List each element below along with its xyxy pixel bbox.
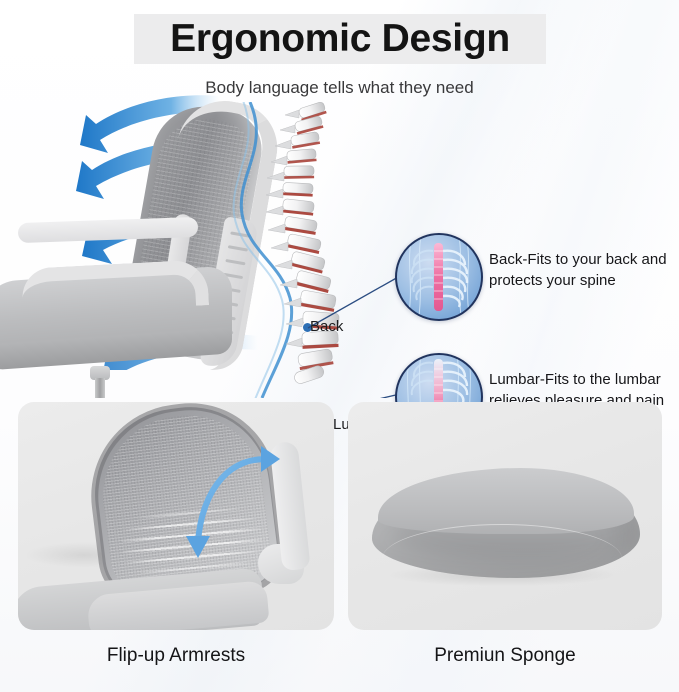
infographic-canvas: Ergonomic Design Body language tells wha… [0, 0, 679, 692]
page-title: Ergonomic Design [134, 14, 546, 64]
spine-xray-circle-icon [395, 233, 483, 321]
caption-flip-up-armrests: Flip-up Armrests [18, 645, 334, 667]
callout-back-line1: Back-Fits to your back and [489, 250, 679, 271]
seat-cushion-icon [348, 402, 662, 630]
curved-double-arrow-icon [18, 402, 334, 630]
panel-flip-up-armrests [18, 402, 334, 630]
top-scene: Back Lumbar [0, 98, 679, 398]
mesh-chair-with-flip-armrest-icon [18, 402, 334, 630]
callout-back-line2: protects your spine [489, 271, 679, 292]
callout-lumbar-line1: Lumbar-Fits to the lumbar [489, 370, 679, 391]
panel-premium-sponge [348, 402, 662, 630]
caption-premium-sponge: Premiun Sponge [348, 645, 662, 667]
callout-text-back: Back-Fits to your back and protects your… [489, 250, 679, 291]
spine-label-back: Back [310, 318, 343, 335]
human-spine-icon [250, 100, 360, 390]
